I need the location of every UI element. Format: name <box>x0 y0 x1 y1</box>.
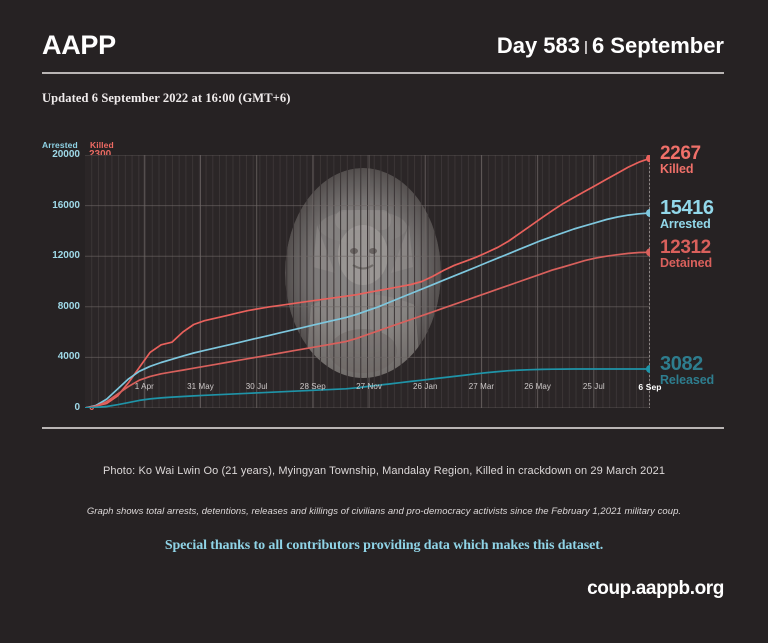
thanks-note: Special thanks to all contributors provi… <box>0 538 768 554</box>
left-axis-tick: 16000 <box>20 201 80 211</box>
callout-detained-label: Detained <box>660 257 712 270</box>
left-axis-tick: 8000 <box>20 302 80 312</box>
graph-note: Graph shows total arrests, detentions, r… <box>0 506 768 517</box>
callout-detained: 12312 Detained <box>660 238 712 270</box>
header: AAPP Day 583|6 September Updated 6 Septe… <box>0 0 768 80</box>
heading-date: 6 September <box>592 33 724 58</box>
left-axis-tick: 0 <box>20 403 80 413</box>
callout-killed: 2267 Killed <box>660 144 701 176</box>
series-endpoint-detained <box>646 248 650 256</box>
callout-arrested: 15416 Arrested <box>660 199 714 231</box>
plot-svg <box>85 155 650 408</box>
left-axis-tick: 12000 <box>20 251 80 261</box>
header-divider <box>42 72 724 74</box>
day-date-heading: Day 583|6 September <box>497 33 724 59</box>
callout-killed-label: Killed <box>660 163 701 176</box>
updated-timestamp: Updated 6 September 2022 at 16:00 (GMT+6… <box>42 91 290 106</box>
heading-separator: | <box>580 38 592 54</box>
brand-title: AAPP <box>42 30 116 61</box>
callout-released-label: Released <box>660 374 714 387</box>
plot-area <box>85 155 650 408</box>
callout-released-value: 3082 <box>660 355 714 374</box>
series-endpoint-arrested <box>646 209 650 217</box>
callout-arrested-value: 15416 <box>660 199 714 218</box>
callout-detained-value: 12312 <box>660 238 712 257</box>
callout-released: 3082 Released <box>660 355 714 387</box>
chart-container: Arrested Killed 040008000120001600020000… <box>0 130 768 400</box>
site-url: coup.aappb.org <box>587 578 724 600</box>
day-counter: Day 583 <box>497 33 580 58</box>
callout-killed-value: 2267 <box>660 144 701 163</box>
photo-credit: Photo: Ko Wai Lwin Oo (21 years), Myingy… <box>0 465 768 477</box>
footer-divider <box>42 427 724 429</box>
infographic-page: AAPP Day 583|6 September Updated 6 Septe… <box>0 0 768 643</box>
series-endpoint-released <box>646 365 650 373</box>
left-axis-tick: 20000 <box>20 150 80 160</box>
series-endpoint-killed <box>646 155 650 162</box>
callout-arrested-label: Arrested <box>660 218 714 231</box>
grid-minor <box>92 155 644 408</box>
left-axis-tick: 4000 <box>20 352 80 362</box>
